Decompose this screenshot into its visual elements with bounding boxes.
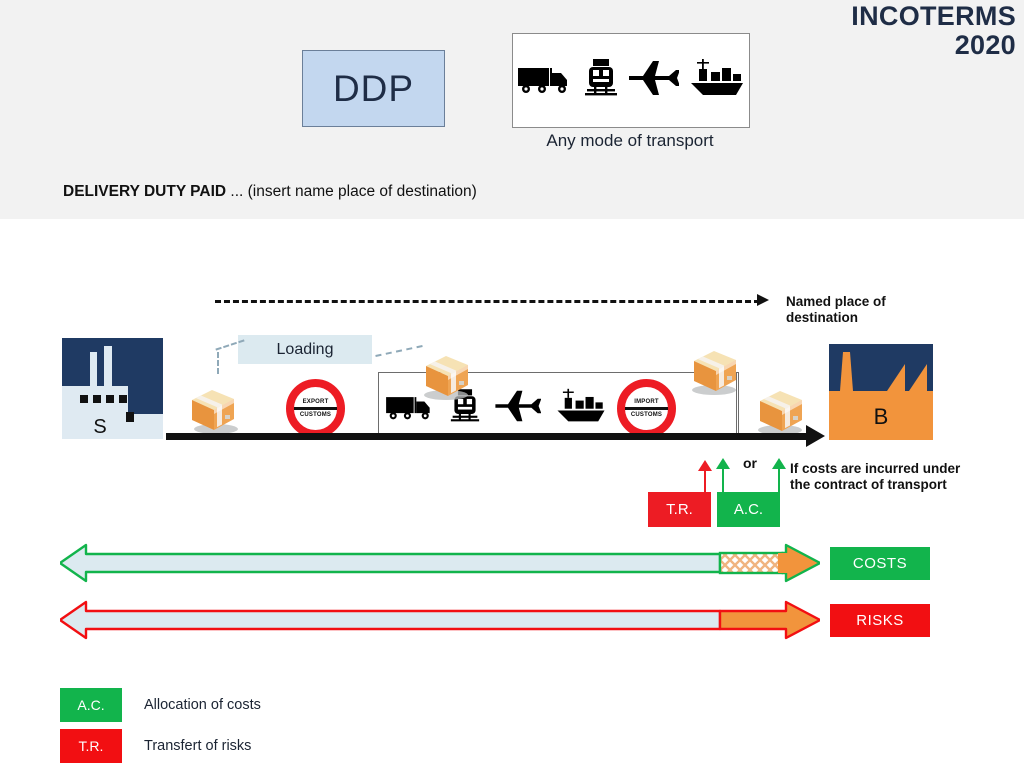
allocation-costs-arrow-stem-right: [778, 468, 780, 494]
buyer-label: B: [874, 404, 889, 429]
transfer-risks-callout: T.R.: [648, 492, 711, 527]
plane-icon: [627, 58, 679, 103]
allocation-costs-arrow-head-left: [716, 458, 730, 469]
allocation-costs-callout: A.C.: [717, 492, 780, 527]
transfer-risks-arrow-stem: [704, 470, 706, 494]
loading-connector-left-vertical: [217, 352, 219, 374]
seller-building: S: [62, 338, 163, 439]
incoterm-code-label: DDP: [333, 68, 414, 110]
export-customs-badge: EXPORT CUSTOMS: [286, 379, 345, 438]
risks-arrow: [60, 597, 820, 643]
package-icon: [688, 346, 744, 396]
allocation-costs-arrow-stem-left: [722, 468, 724, 494]
package-icon: [420, 351, 476, 401]
legend-chip-transfer-risks: T.R.: [60, 729, 122, 763]
page-title-bold: DELIVERY DUTY PAID: [63, 183, 226, 200]
costs-incurred-note: If costs are incurred under the contract…: [790, 461, 1020, 494]
transfer-risks-arrow-head: [698, 460, 712, 471]
costs-incurred-note-line1: If costs are incurred under: [790, 461, 1020, 477]
named-place-dashed-line: [215, 300, 760, 303]
truck-icon: [517, 60, 575, 101]
train-icon: [584, 58, 618, 103]
loading-connector-right: [375, 345, 422, 357]
loading-label-text: Loading: [277, 341, 334, 359]
legend-label-allocation-costs: Allocation of costs: [144, 697, 261, 713]
transport-mode-box: [512, 33, 750, 128]
import-customs-bottom: CUSTOMS: [631, 412, 662, 418]
export-customs-bottom: CUSTOMS: [300, 412, 331, 418]
legend-chip-transfer-risks-label: T.R.: [79, 738, 104, 754]
package-icon: [754, 386, 810, 436]
transfer-risks-callout-label: T.R.: [666, 501, 693, 518]
costs-incurred-note-line2: the contract of transport: [790, 477, 1020, 493]
legend-chip-allocation-costs-label: A.C.: [77, 697, 104, 713]
buyer-building: B: [829, 344, 933, 440]
incoterm-code-box: DDP: [302, 50, 445, 127]
seller-label: S: [93, 416, 106, 438]
named-place-line2: destination: [786, 310, 1016, 326]
ship-icon: [688, 57, 746, 104]
loading-label: Loading: [238, 335, 372, 364]
ship-icon: [554, 387, 608, 430]
costs-arrow: [60, 540, 820, 586]
page-title-rest: ... (insert name place of destination): [226, 183, 477, 200]
legend-chip-allocation-costs: A.C.: [60, 688, 122, 722]
allocation-costs-arrow-head-right: [772, 458, 786, 469]
risks-tag-label: RISKS: [856, 612, 904, 629]
named-place-line1: Named place of: [786, 294, 1016, 310]
or-label: or: [730, 455, 770, 471]
import-customs-badge: IMPORT CUSTOMS: [617, 379, 676, 438]
transport-mode-caption: Any mode of transport: [500, 131, 760, 151]
plane-icon: [493, 388, 541, 429]
import-customs-top: IMPORT: [634, 399, 659, 405]
named-place-dashed-arrowhead: [757, 294, 769, 306]
page-title: DELIVERY DUTY PAID ... (insert name plac…: [63, 183, 477, 201]
named-place-label: Named place of destination: [786, 294, 1016, 327]
package-icon: [186, 385, 242, 435]
export-customs-bar: [294, 407, 337, 411]
allocation-costs-callout-label: A.C.: [734, 501, 763, 518]
delivery-baseline-arrowhead: [806, 425, 825, 447]
risks-tag: RISKS: [830, 604, 930, 637]
legend-label-transfer-risks: Transfert of risks: [144, 738, 251, 754]
import-customs-bar: [625, 407, 668, 411]
costs-tag-label: COSTS: [853, 555, 907, 572]
delivery-baseline: [166, 433, 811, 440]
costs-tag: COSTS: [830, 547, 930, 580]
export-customs-top: EXPORT: [303, 399, 329, 405]
incoterms-brand-line1: INCOTERMS: [851, 1, 1016, 31]
